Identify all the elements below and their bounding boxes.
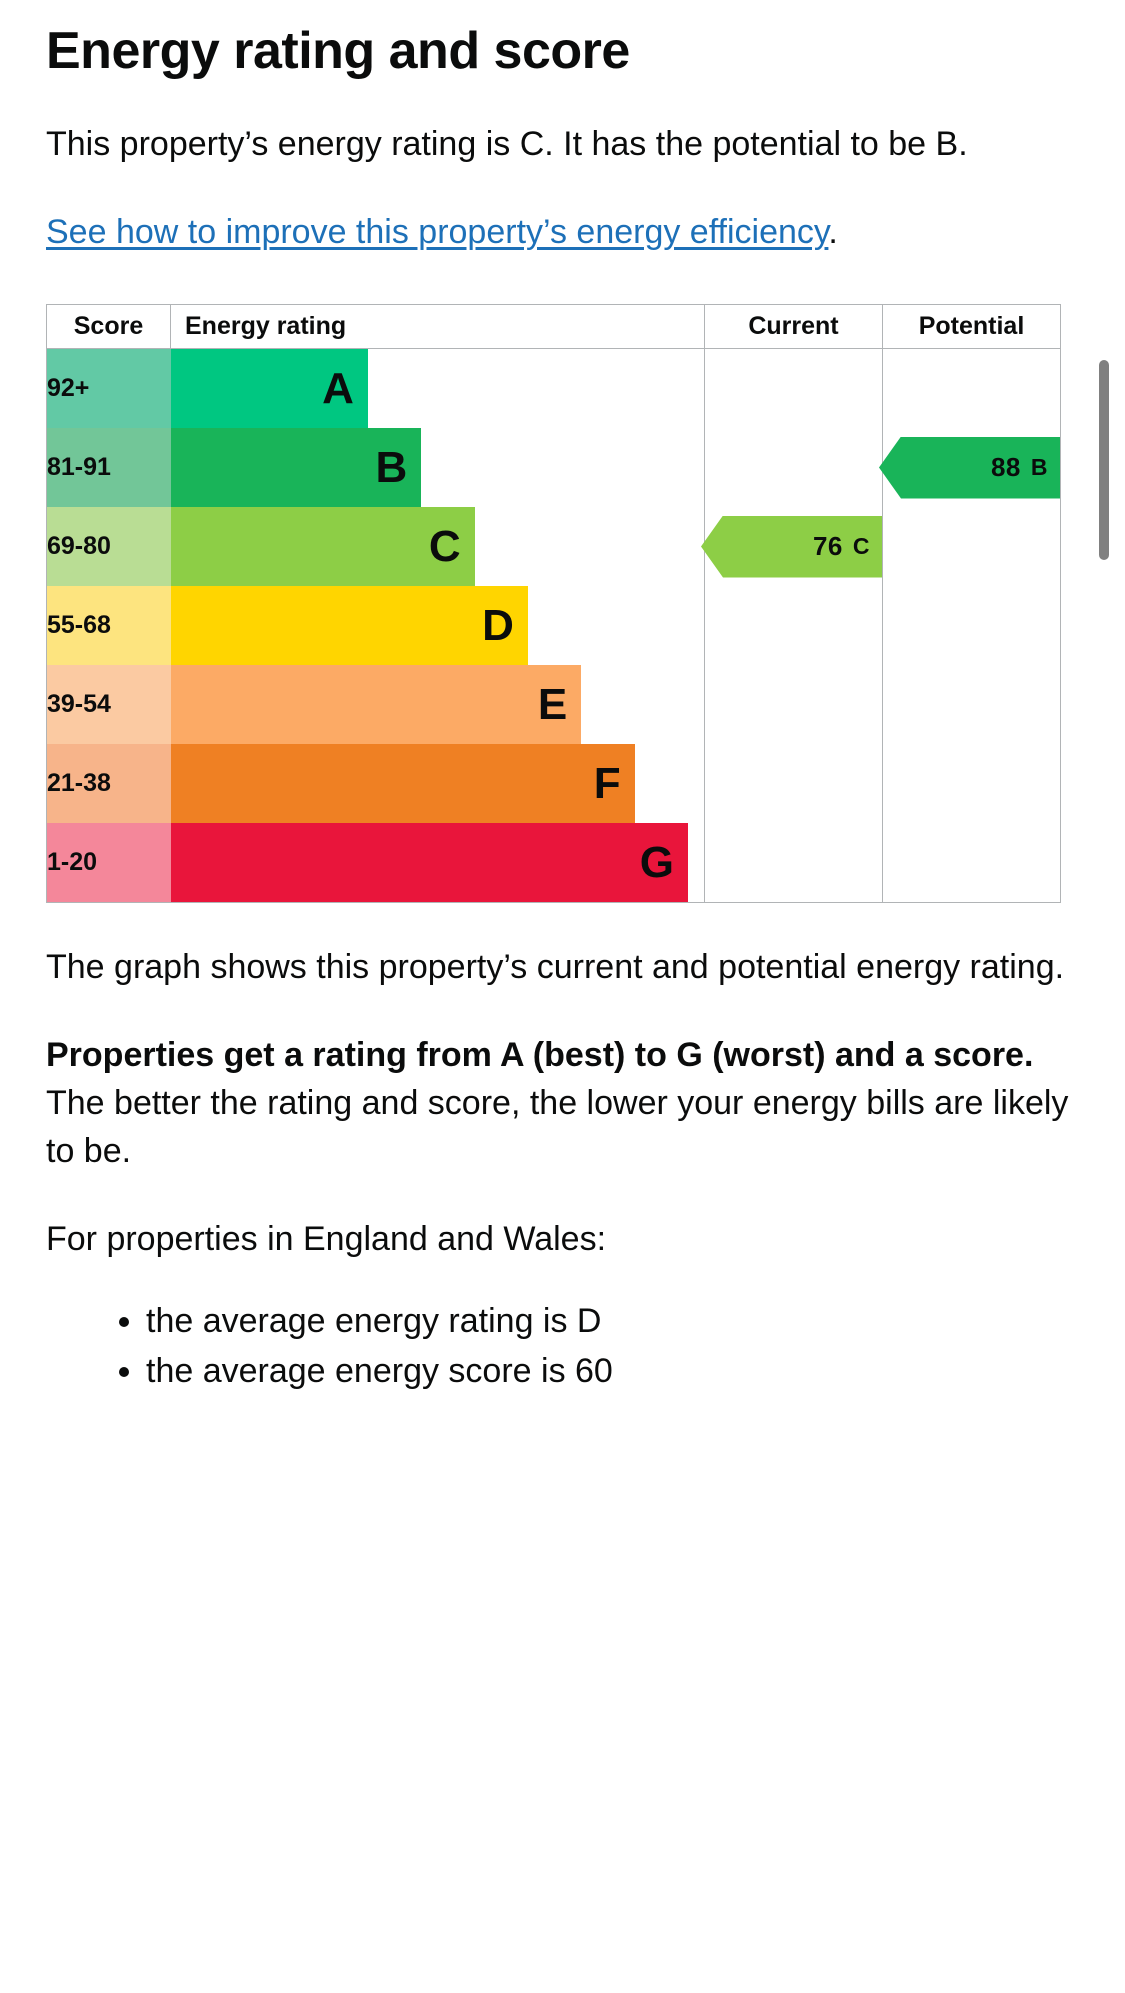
potential-cell-c (883, 507, 1061, 586)
header-current: Current (705, 305, 883, 349)
epc-table-body: 92+A81-91B88B69-80C76C55-68D39-54E21-38F… (47, 349, 1061, 903)
epc-row-c: 69-80C76C (47, 507, 1061, 586)
potential-cell-f (883, 744, 1061, 823)
rating-bar-a: A (171, 349, 368, 428)
graph-caption: The graph shows this property’s current … (46, 943, 1079, 991)
current-cell-d (705, 586, 883, 665)
score-range-a: 92+ (47, 349, 171, 429)
potential-cell-d (883, 586, 1061, 665)
score-range-e: 39-54 (47, 665, 171, 744)
intro-paragraph: This property’s energy rating is C. It h… (46, 120, 1079, 168)
rating-bar-cell-d: D (171, 586, 705, 665)
header-score: Score (47, 305, 171, 349)
header-energy-rating: Energy rating (171, 305, 705, 349)
rating-bar-cell-c: C (171, 507, 705, 586)
rating-explainer-bold: Properties get a rating from A (best) to… (46, 1036, 1033, 1074)
scrollbar-thumb[interactable] (1099, 360, 1109, 560)
current-cell-c: 76C (705, 507, 883, 586)
improve-link-paragraph: See how to improve this property’s energ… (46, 208, 1079, 256)
rating-bar-c: C (171, 507, 475, 586)
score-range-f: 21-38 (47, 744, 171, 823)
epc-page: Energy rating and score This property’s … (0, 0, 1125, 1993)
potential-score-value: 88 (991, 452, 1021, 483)
epc-table-head: Score Energy rating Current Potential (47, 305, 1061, 349)
epc-row-b: 81-91B88B (47, 428, 1061, 507)
rating-bar-b: B (171, 428, 422, 507)
potential-cell-g (883, 823, 1061, 903)
potential-rating-arrow: 88B (879, 437, 1060, 499)
potential-cell-e (883, 665, 1061, 744)
current-cell-f (705, 744, 883, 823)
epc-row-d: 55-68D (47, 586, 1061, 665)
rating-explainer: Properties get a rating from A (best) to… (46, 1031, 1079, 1175)
header-potential: Potential (883, 305, 1061, 349)
rating-bar-g: G (171, 823, 688, 902)
improve-efficiency-link[interactable]: See how to improve this property’s energ… (46, 213, 828, 251)
region-intro: For properties in England and Wales: (46, 1215, 1079, 1263)
current-cell-e (705, 665, 883, 744)
potential-cell-b: 88B (883, 428, 1061, 507)
epc-table: Score Energy rating Current Potential 92… (46, 304, 1061, 903)
current-band-letter: C (853, 533, 870, 560)
score-range-b: 81-91 (47, 428, 171, 507)
current-cell-g (705, 823, 883, 903)
rating-bar-d: D (171, 586, 528, 665)
rating-bar-cell-b: B (171, 428, 705, 507)
page-title: Energy rating and score (46, 22, 1079, 80)
averages-list: the average energy rating is Dthe averag… (46, 1297, 1079, 1395)
epc-header-row: Score Energy rating Current Potential (47, 305, 1061, 349)
improve-link-period: . (828, 213, 837, 251)
current-rating-arrow: 76C (701, 516, 882, 578)
list-item: the average energy score is 60 (146, 1347, 1079, 1395)
rating-bar-cell-g: G (171, 823, 705, 903)
epc-chart: Score Energy rating Current Potential 92… (46, 304, 1060, 903)
potential-cell-a (883, 349, 1061, 429)
scrollbar-track[interactable] (1107, 0, 1117, 1993)
rating-explainer-rest: The better the rating and score, the low… (46, 1084, 1068, 1170)
rating-bar-cell-e: E (171, 665, 705, 744)
score-range-c: 69-80 (47, 507, 171, 586)
current-cell-a (705, 349, 883, 429)
epc-row-e: 39-54E (47, 665, 1061, 744)
list-item: the average energy rating is D (146, 1297, 1079, 1345)
potential-band-letter: B (1031, 454, 1048, 481)
score-range-d: 55-68 (47, 586, 171, 665)
rating-bar-e: E (171, 665, 582, 744)
epc-row-a: 92+A (47, 349, 1061, 429)
current-score-value: 76 (813, 531, 843, 562)
current-cell-b (705, 428, 883, 507)
score-range-g: 1-20 (47, 823, 171, 903)
epc-row-f: 21-38F (47, 744, 1061, 823)
rating-bar-f: F (171, 744, 635, 823)
rating-bar-cell-f: F (171, 744, 705, 823)
rating-bar-cell-a: A (171, 349, 705, 429)
epc-row-g: 1-20G (47, 823, 1061, 903)
